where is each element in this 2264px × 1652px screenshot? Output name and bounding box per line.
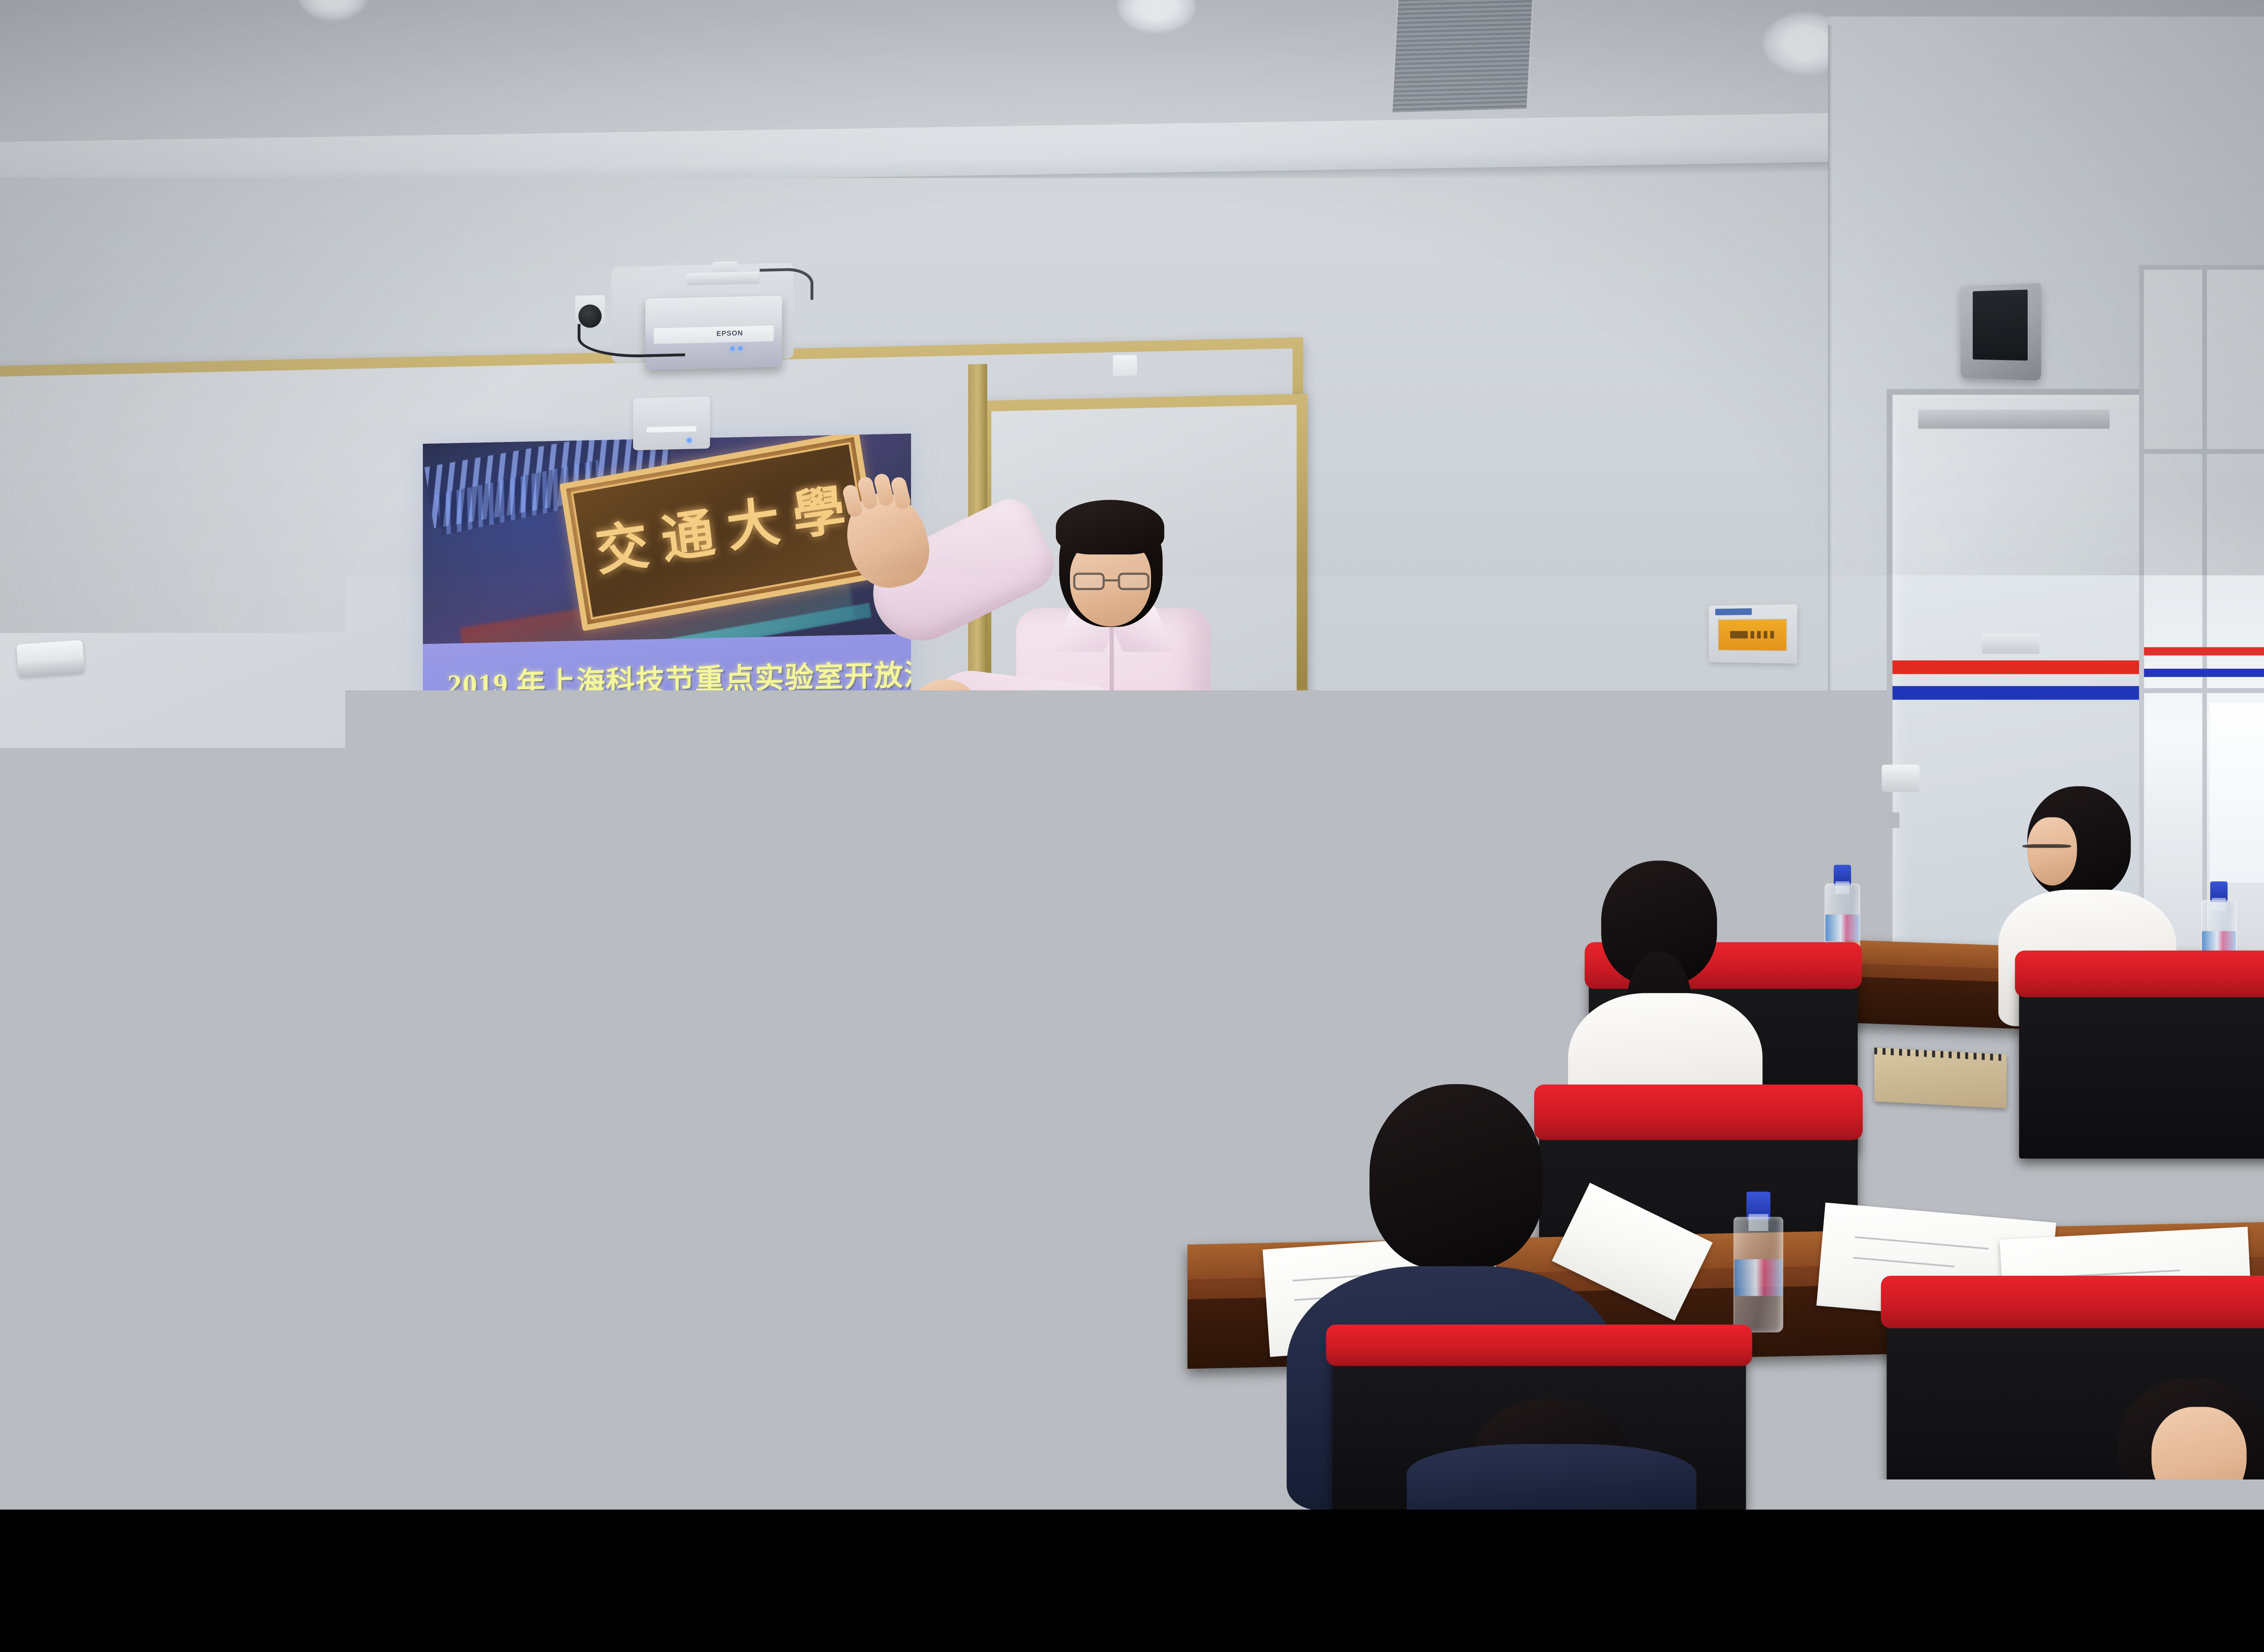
student-face (2027, 817, 2077, 886)
av-receiver-box[interactable] (633, 396, 710, 450)
plaque-char: 交 (593, 519, 652, 578)
door-closer (1918, 410, 2110, 429)
presenter-hair (1056, 500, 1164, 555)
av-control-panel[interactable] (1708, 604, 1797, 663)
student-face (1663, 799, 1713, 865)
student-head (165, 919, 339, 1105)
whiteboard-eraser-icon[interactable] (16, 640, 85, 677)
plaque-char: 學 (789, 483, 848, 543)
hair-tie-icon (1268, 993, 1297, 1013)
wall-speaker (1961, 283, 2041, 380)
water-bottle[interactable] (1734, 1192, 1784, 1333)
student-body (1407, 1444, 1697, 1509)
university-name-cn: 上海交通大学 (763, 733, 892, 764)
chair[interactable] (137, 1258, 526, 1510)
door-sensor (1982, 634, 2039, 654)
student-head (1369, 1084, 1543, 1270)
panel-brand-tag (1715, 609, 1751, 615)
water-bottle[interactable] (567, 1196, 613, 1328)
projected-slide: 交 通 大 學 2019 年上海科技节重点实验室开放活动 主办单位：上海市手性药… (423, 433, 911, 808)
plaque-char: 大 (724, 495, 783, 555)
slide-title: 2019 年上海科技节重点实验室开放活动 (447, 652, 887, 703)
presenter-glasses-icon (1073, 573, 1149, 590)
classroom-scene: 交 通 大 學 2019 年上海科技节重点实验室开放活动 主办单位：上海市手性药… (0, 0, 2264, 1509)
university-seal-icon (721, 732, 757, 768)
red-booklet[interactable] (397, 1002, 517, 1075)
door-lock-icon[interactable] (1889, 812, 1899, 828)
water-bottle[interactable] (1518, 989, 1554, 1092)
water-bottle[interactable] (1187, 910, 1220, 1005)
window-safety-stripe-red (2144, 647, 2264, 655)
slide-text-panel: 2019 年上海科技节重点实验室开放活动 主办单位：上海市手性药物分子工程重点实… (423, 634, 911, 808)
chair[interactable] (2019, 964, 2264, 1158)
av-receiver-led (687, 438, 692, 443)
plaque-char: 通 (658, 507, 717, 567)
projector-brand-label: EPSON (716, 329, 743, 338)
panel-display (1718, 619, 1787, 651)
projector-led-indicator (738, 346, 743, 351)
university-logo: 上海交通大学 SHANGHAI JIAO TONG UNIVERSITY (721, 729, 891, 768)
ceiling-air-vent (1391, 0, 1534, 114)
speaker-grill (1973, 289, 2028, 360)
projector-mount-bracket (687, 271, 760, 285)
window-daylight (2210, 703, 2264, 883)
window-safety-stripe-blue (2144, 669, 2264, 677)
slide-date: 2019.05.18 (447, 754, 522, 774)
hair-clip-icon (1341, 863, 1362, 880)
slide-photo-banner: 交 通 大 學 (423, 433, 911, 651)
wall-plate (1113, 355, 1137, 376)
student-ponytail (1101, 1419, 1238, 1509)
student-face (2151, 1407, 2246, 1510)
projector-led-indicator (730, 346, 734, 351)
student-glasses-icon (2022, 844, 2071, 848)
student-glasses-icon (1659, 823, 1705, 827)
notebook[interactable] (1874, 1047, 2006, 1108)
door-handle[interactable] (1881, 765, 1920, 792)
chair[interactable] (679, 1320, 1084, 1509)
